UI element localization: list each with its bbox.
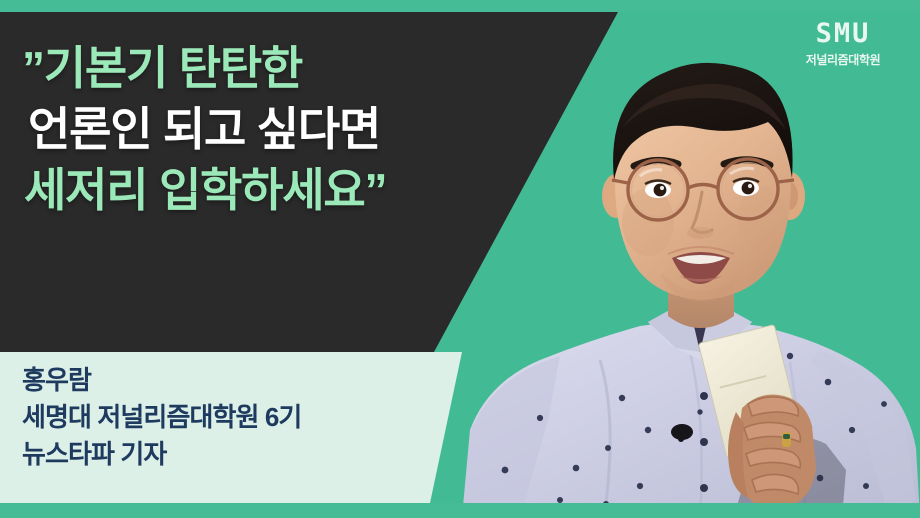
speaker-affiliation: 세명대 저널리즘대학원 6기 bbox=[22, 399, 301, 436]
headline-line-3: 세저리 입학하세요” bbox=[22, 160, 542, 221]
headline-line-2: 언론인 되고 싶다면 bbox=[22, 99, 542, 160]
smu-logo: SMU 저널리즘대학원 bbox=[788, 20, 898, 66]
speaker-name: 홍우람 bbox=[22, 362, 301, 399]
smu-logo-subtitle: 저널리즘대학원 bbox=[788, 54, 898, 66]
speaker-role: 뉴스타파 기자 bbox=[22, 436, 301, 473]
headline-quote: ”기본기 탄탄한 언론인 되고 싶다면 세저리 입학하세요” bbox=[22, 38, 542, 222]
headline-line-1: ”기본기 탄탄한 bbox=[22, 38, 542, 99]
bottom-green-bar bbox=[0, 503, 920, 518]
top-green-bar bbox=[0, 0, 920, 12]
interview-card: ”기본기 탄탄한 언론인 되고 싶다면 세저리 입학하세요” 홍우람 세명대 저… bbox=[0, 0, 920, 518]
speaker-caption: 홍우람 세명대 저널리즘대학원 6기 뉴스타파 기자 bbox=[22, 362, 301, 473]
smu-logo-mark: SMU bbox=[788, 20, 898, 47]
